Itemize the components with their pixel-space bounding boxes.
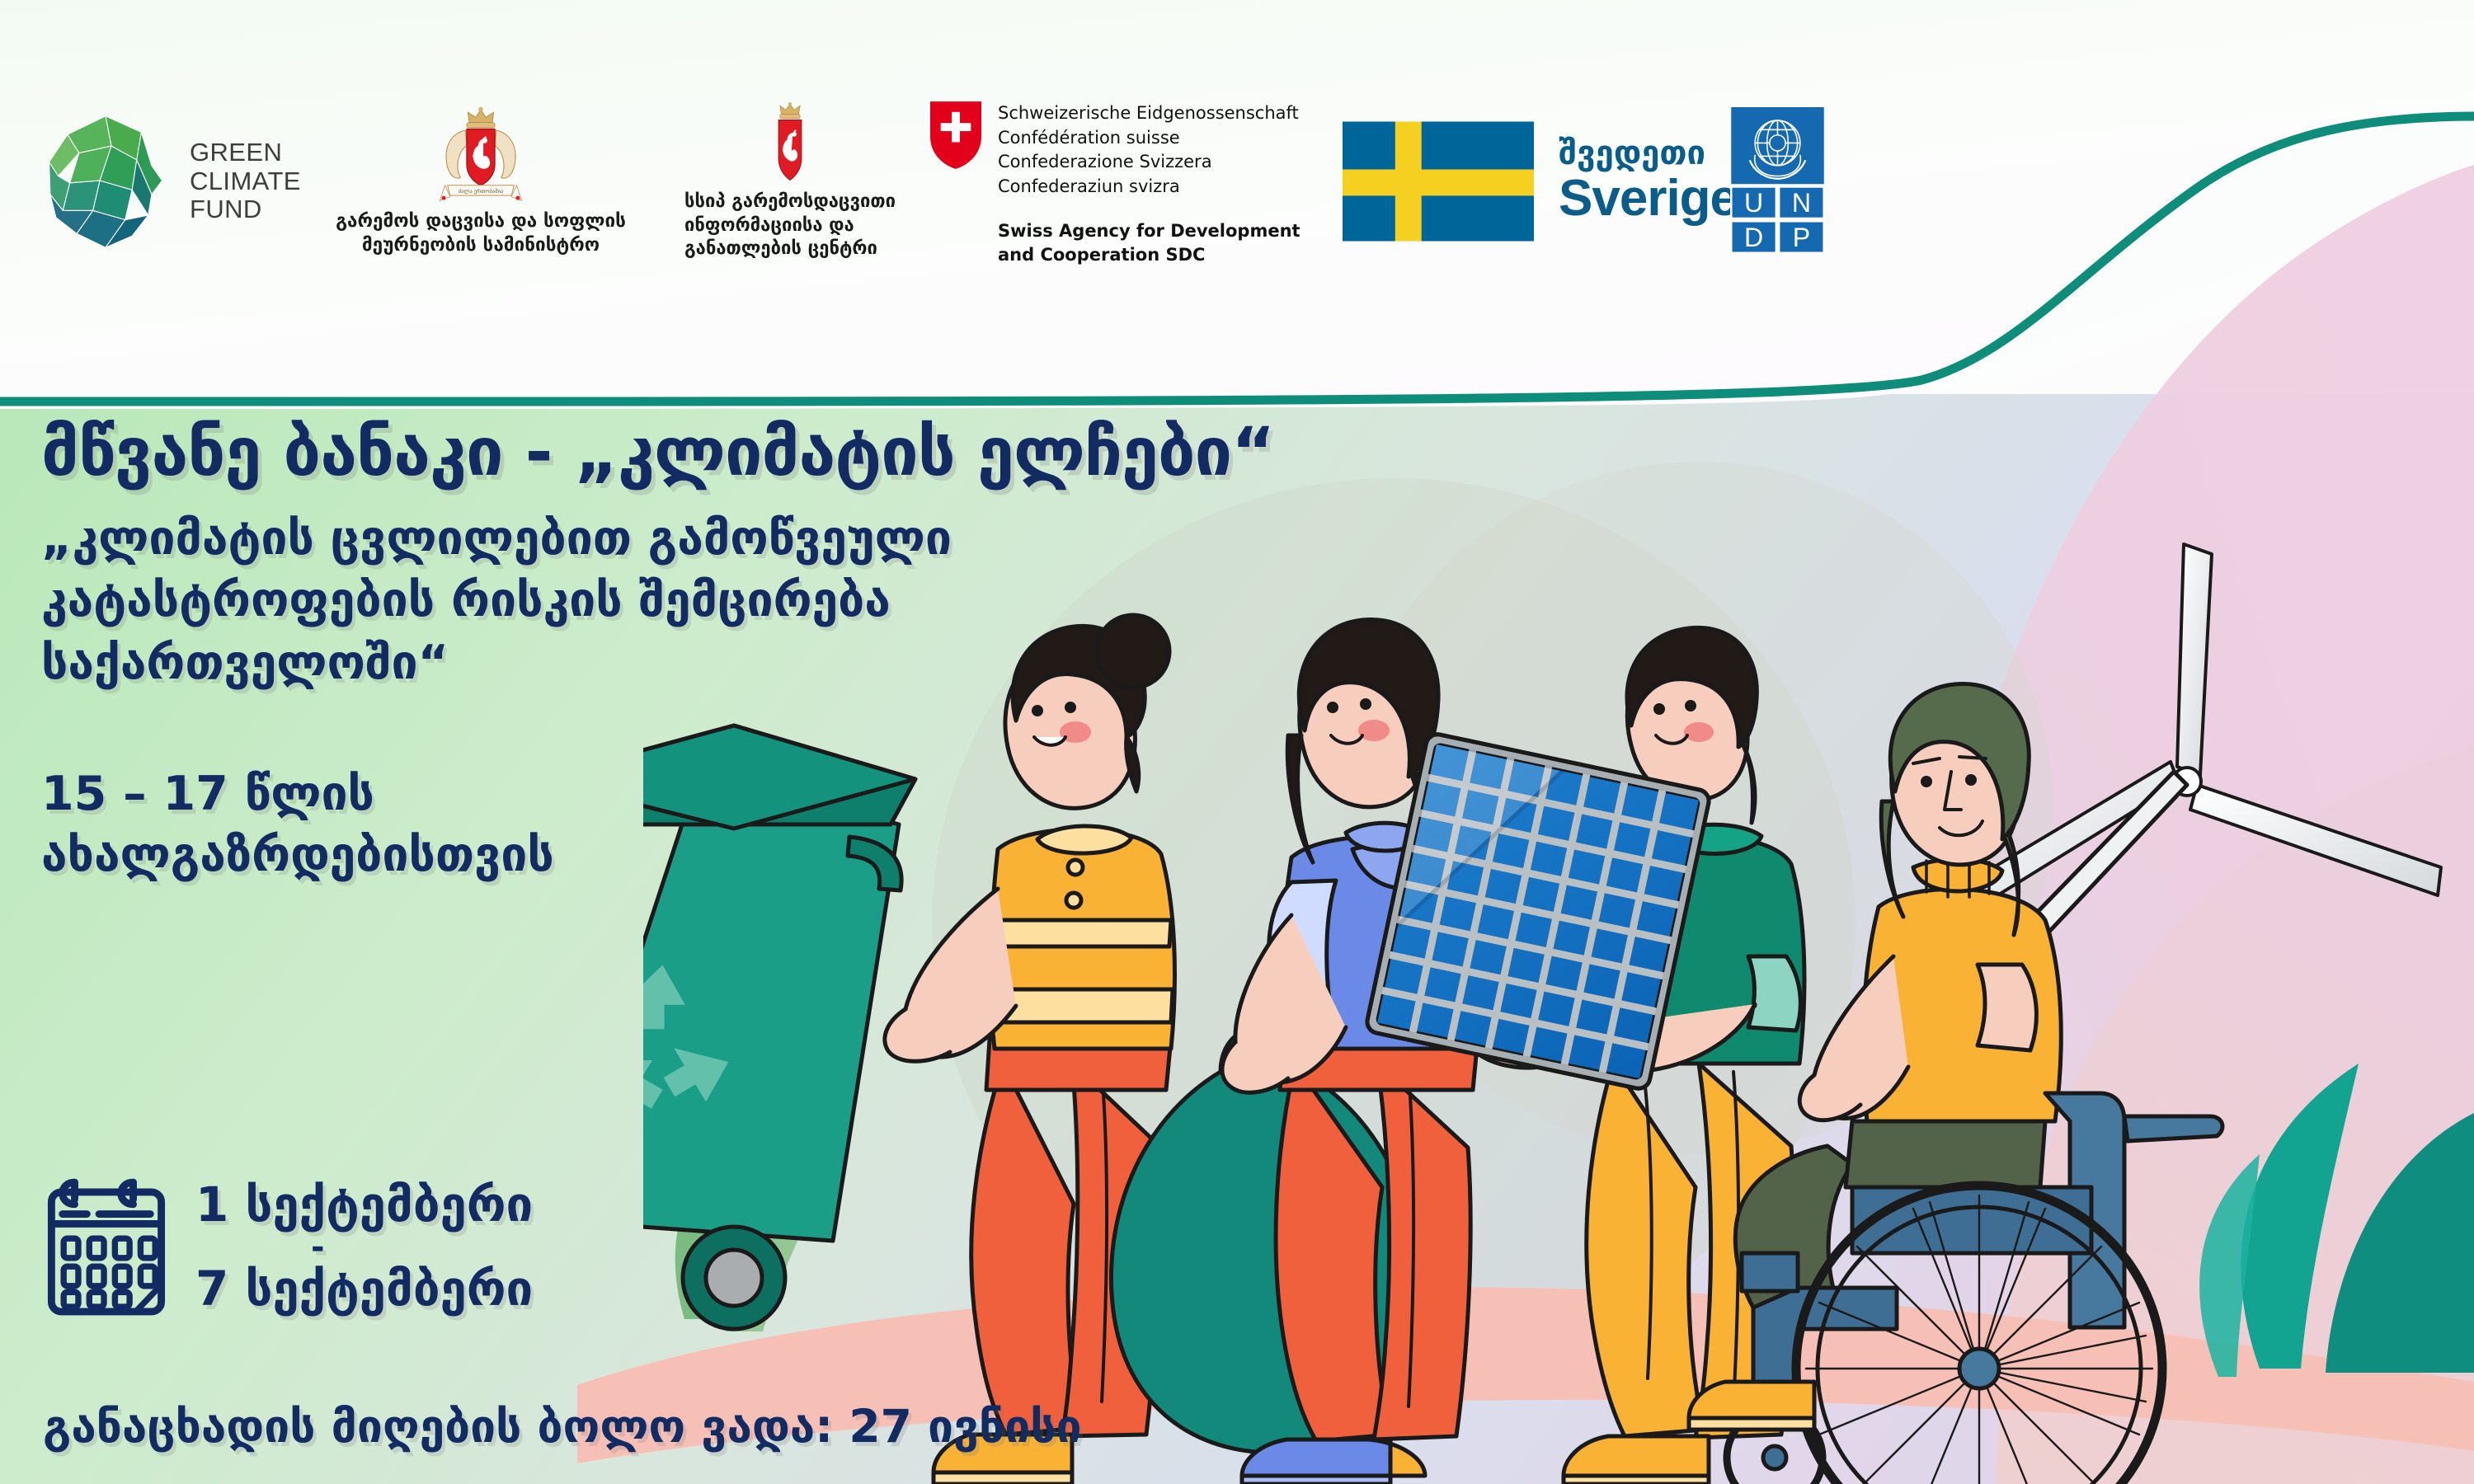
swiss-lang-fr: Confédération suisse bbox=[998, 126, 1300, 151]
swiss-sdc-name: Swiss Agency for Development and Coopera… bbox=[998, 219, 1300, 266]
swiss-cross-shield-icon bbox=[930, 101, 981, 169]
partner-logo-strip: GREEN CLIMATE FUND bbox=[0, 0, 1996, 363]
project-subtitle: „კლიმატის ცვლილებით გამოწვეული კატასტროფ… bbox=[41, 508, 1262, 694]
svg-text:ძალა ერთობაშია: ძალა ერთობაშია bbox=[459, 187, 503, 195]
gcf-word-3: FUND bbox=[190, 195, 301, 224]
sweden-label-ka: შვედეთი bbox=[1559, 137, 1738, 170]
page-title: მწვანე ბანაკი - „კლიმატის ელჩები“ bbox=[41, 416, 1402, 490]
application-deadline: განაცხადის მიღების ბოლო ვადა: 27 ივნისი bbox=[43, 1402, 1082, 1452]
swiss-lang-de: Schweizerische Eidgenossenschaft bbox=[998, 101, 1300, 126]
logo-ministry-environment: ძალა ერთობაშია გარემოს დაცვისა და სოფლის… bbox=[312, 106, 650, 258]
logo-swiss-sdc: Schweizerische Eidgenossenschaft Confédé… bbox=[930, 96, 1343, 266]
target-audience: 15 – 17 წლის ახალგაზრდებისთვის bbox=[41, 763, 1402, 885]
logo-sweden: შვედეთი Sverige bbox=[1343, 121, 1730, 242]
undp-letter-n: N bbox=[1792, 188, 1811, 218]
gcf-word-1: GREEN bbox=[190, 139, 301, 167]
gcf-polygon-logo-icon bbox=[40, 114, 172, 250]
swiss-lang-rm: Confederaziun svizra bbox=[998, 175, 1300, 200]
undp-letter-p: P bbox=[1793, 223, 1810, 252]
main-copy-block: მწვანე ბანაკი - „კლიმატის ელჩები“ „კლიმა… bbox=[41, 416, 1402, 885]
sweden-label-en: Sverige bbox=[1559, 171, 1738, 225]
event-date-range: 1 სექტემბერი - 7 სექტემბერი bbox=[195, 1180, 533, 1314]
gcf-word-2: CLIMATE bbox=[190, 167, 301, 196]
un-emblem-icon: U N D P bbox=[1730, 107, 1825, 256]
date-separator: - bbox=[311, 1233, 533, 1262]
ministry-caption: გარემოს დაცვისა და სოფლის მეურნეობის სამ… bbox=[336, 209, 626, 258]
swiss-text-block: Schweizerische Eidgenossenschaft Confédé… bbox=[998, 101, 1300, 266]
sweden-flag-icon bbox=[1343, 121, 1534, 242]
date-start: 1 სექტემბერი bbox=[195, 1176, 533, 1233]
solar-panel bbox=[1365, 732, 1710, 1091]
event-dates-row: 1 სექტემბერი - 7 სექტემბერი bbox=[45, 1175, 533, 1319]
undp-letter-d: D bbox=[1744, 223, 1763, 252]
eiec-caption: სსიპ გარემოსდაცვითი ინფორმაციისა და განა… bbox=[684, 190, 896, 261]
georgia-coat-of-arms-icon: ძალა ერთობაშია bbox=[430, 106, 532, 206]
gcf-wordmark: GREEN CLIMATE FUND bbox=[190, 139, 301, 224]
calendar-icon bbox=[45, 1175, 167, 1319]
undp-letter-u: U bbox=[1744, 188, 1763, 218]
date-end: 7 სექტემბერი bbox=[195, 1261, 533, 1317]
logo-green-climate-fund: GREEN CLIMATE FUND bbox=[40, 114, 312, 250]
logo-eiec: სსიპ გარემოსდაცვითი ინფორმაციისა და განა… bbox=[650, 101, 930, 261]
poster-root: GREEN CLIMATE FUND bbox=[0, 0, 2474, 1484]
logo-undp: U N D P bbox=[1730, 107, 1879, 256]
sweden-wordmark: შვედეთი Sverige bbox=[1559, 137, 1738, 225]
georgia-small-crest-icon bbox=[761, 101, 819, 187]
swiss-lang-it: Confederazione Svizzera bbox=[998, 150, 1300, 175]
